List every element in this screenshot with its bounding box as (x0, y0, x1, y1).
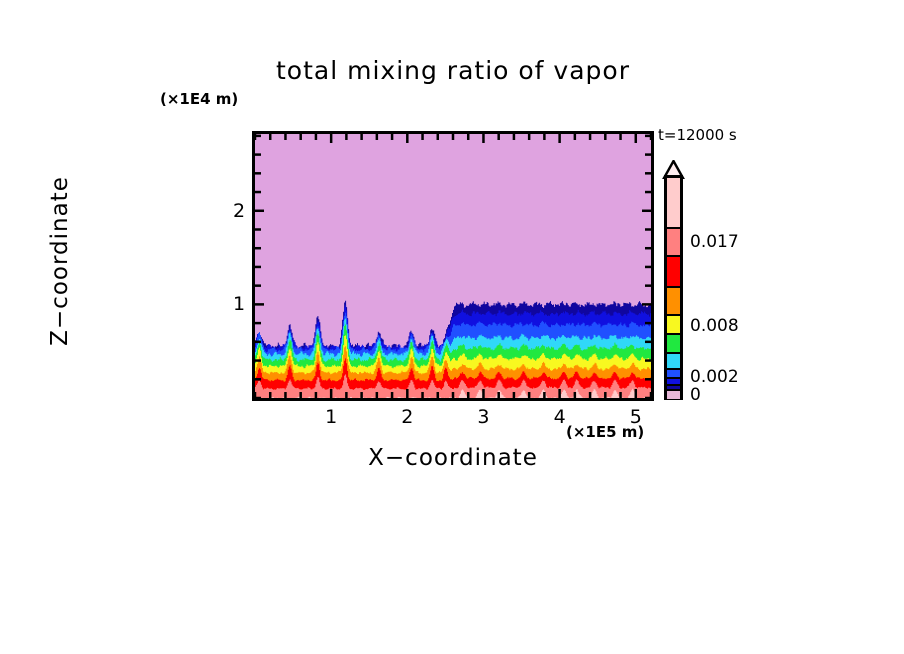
contour-field (255, 134, 651, 398)
colorbar-segment (667, 314, 680, 335)
y-axis-title: Z−coordinate (47, 141, 73, 381)
x-tick-label: 4 (554, 406, 566, 428)
page-title: total mixing ratio of vapor (252, 56, 654, 85)
colorbar-tick-label: 0 (690, 385, 701, 405)
x-tick-label: 3 (477, 406, 489, 428)
colorbar-tick-label: 0.017 (690, 232, 739, 252)
colorbar-tick-label: 0.008 (690, 316, 739, 336)
x-tick-label: 2 (401, 406, 413, 428)
y-axis-unit-label: (×1E4 m) (160, 90, 238, 108)
time-annotation: t=12000 s (658, 126, 737, 144)
x-axis-title: X−coordinate (253, 445, 653, 471)
colorbar-tick-label: 0.002 (690, 367, 739, 387)
colorbar-segment (667, 333, 680, 354)
colorbar-segment (667, 255, 680, 287)
y-tick-label: 1 (233, 293, 245, 315)
x-tick-label: 5 (630, 406, 642, 428)
colorbar-segment (667, 227, 680, 258)
x-tick-label: 1 (325, 406, 337, 428)
colorbar-segment (667, 389, 680, 399)
contour-plot-area (252, 131, 654, 401)
colorbar-segment (667, 286, 680, 317)
colorbar-segment (667, 178, 680, 227)
figure-canvas: total mixing ratio of vapor (×1E4 m) t=1… (0, 0, 904, 654)
y-tick-label: 2 (233, 200, 245, 222)
colorbar (664, 175, 683, 400)
